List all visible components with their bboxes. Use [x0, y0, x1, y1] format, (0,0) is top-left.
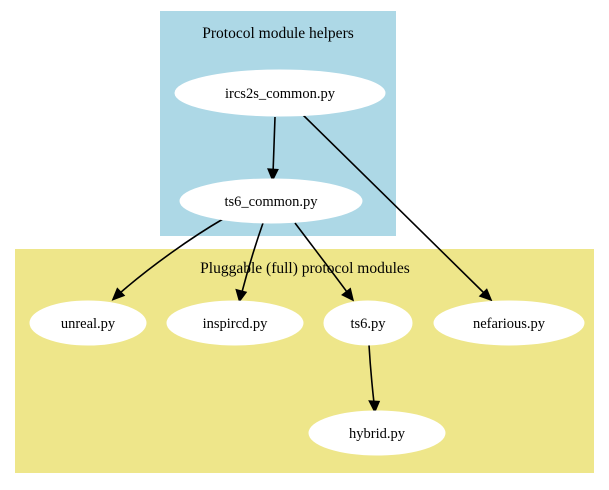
node-label: ircs2s_common.py: [225, 86, 336, 102]
node-unreal[interactable]: unreal.py: [30, 301, 146, 345]
cluster-pluggable-label: Pluggable (full) protocol modules: [200, 260, 410, 277]
node-label: hybrid.py: [349, 426, 406, 442]
node-ts6-common[interactable]: ts6_common.py: [180, 179, 362, 223]
node-label: unreal.py: [61, 316, 116, 332]
node-label: nefarious.py: [473, 316, 546, 332]
node-hybrid[interactable]: hybrid.py: [309, 411, 445, 455]
diagram-canvas: Protocol module helpers Pluggable (full)…: [0, 0, 609, 490]
cluster-pluggable-rect: [15, 249, 594, 473]
cluster-helpers-label: Protocol module helpers: [202, 25, 354, 42]
cluster-pluggable-protocol-modules: Pluggable (full) protocol modules: [15, 249, 594, 473]
node-nefarious[interactable]: nefarious.py: [434, 301, 584, 345]
graph-svg: Protocol module helpers Pluggable (full)…: [0, 0, 609, 490]
node-ircs2s-common[interactable]: ircs2s_common.py: [175, 70, 385, 116]
node-label: ts6_common.py: [224, 194, 318, 210]
node-ts6[interactable]: ts6.py: [324, 301, 412, 345]
node-label: ts6.py: [350, 316, 386, 332]
node-inspircd[interactable]: inspircd.py: [167, 301, 303, 345]
node-label: inspircd.py: [203, 316, 269, 332]
